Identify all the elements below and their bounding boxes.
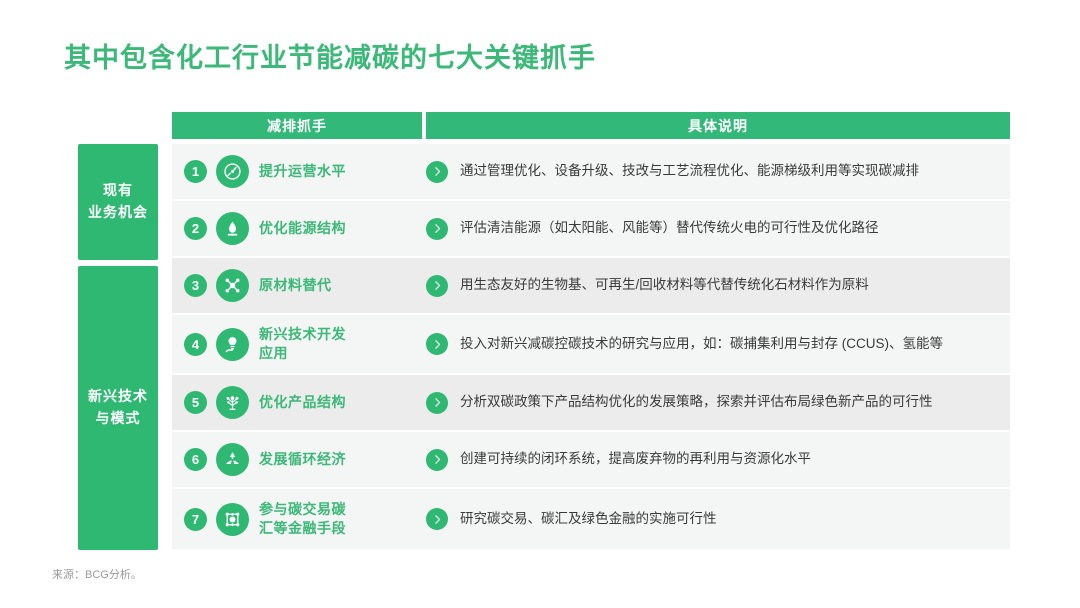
table-row[interactable]: 6 发展循环经济 创建可持续的闭环系统，提高废弃物的再利用与资源化水平 — [172, 432, 1010, 489]
category-label-line2: 与模式 — [96, 408, 141, 430]
column-header-measures: 减排抓手 — [172, 112, 422, 139]
tree-icon — [216, 386, 249, 419]
description-text: 研究碳交易、碳汇及绿色金融的实施可行性 — [460, 509, 717, 530]
chevron-right-icon — [426, 333, 448, 355]
chevron-right-icon — [426, 392, 448, 414]
chevron-right-icon — [426, 161, 448, 183]
chevron-right-icon — [426, 449, 448, 471]
measure-label: 发展循环经济 — [259, 450, 346, 469]
measure-label-line1: 优化能源结构 — [259, 219, 346, 238]
measure-label: 提升运营水平 — [259, 162, 346, 181]
flame-icon — [216, 212, 249, 245]
measure-cell: 6 发展循环经济 — [172, 432, 426, 487]
row-number-badge: 6 — [184, 448, 207, 471]
category-label-line1: 新兴技术 — [88, 386, 148, 408]
chevron-right-icon — [426, 218, 448, 240]
row-number-badge: 3 — [184, 274, 207, 297]
description-cell: 研究碳交易、碳汇及绿色金融的实施可行性 — [426, 489, 1010, 549]
row-number-badge: 7 — [184, 508, 207, 531]
table-row[interactable]: 1 提升运营水平 通过管理优化、设备升级、技改与工艺流程优化、能源梯级利用等实现… — [172, 144, 1010, 201]
measures-table: 1 提升运营水平 通过管理优化、设备升级、技改与工艺流程优化、能源梯级利用等实现… — [172, 144, 1010, 549]
description-cell: 创建可持续的闭环系统，提高废弃物的再利用与资源化水平 — [426, 432, 1010, 487]
recycle-icon — [216, 443, 249, 476]
slide-canvas: 其中包含化工行业节能减碳的七大关键抓手 减排抓手 具体说明 现有 业务机会 新兴… — [0, 0, 1080, 608]
measure-label: 参与碳交易碳 汇等金融手段 — [259, 500, 346, 538]
description-text: 评估清洁能源（如太阳能、风能等）替代传统火电的可行性及优化路径 — [460, 218, 879, 239]
measure-label-line1: 原材料替代 — [259, 276, 332, 295]
description-text: 用生态友好的生物基、可再生/回收材料等代替传统化石材料作为原料 — [460, 275, 869, 296]
description-cell: 通过管理优化、设备升级、技改与工艺流程优化、能源梯级利用等实现碳减排 — [426, 144, 1010, 199]
description-text: 创建可持续的闭环系统，提高废弃物的再利用与资源化水平 — [460, 449, 811, 470]
table-row[interactable]: 4 新兴技术开发 应用 投入对新兴减碳控碳技术的研究与应用，如：碳捕集利用与封存… — [172, 315, 1010, 375]
measure-cell: 3 原材料替代 — [172, 258, 426, 313]
page-title: 其中包含化工行业节能减碳的七大关键抓手 — [64, 36, 596, 75]
measure-label: 优化能源结构 — [259, 219, 346, 238]
measure-cell: 2 优化能源结构 — [172, 201, 426, 256]
source-note: 来源：BCG分析。 — [52, 566, 142, 582]
measure-label-line1: 新兴技术开发 — [259, 325, 346, 344]
description-cell: 投入对新兴减碳控碳技术的研究与应用，如：碳捕集利用与封存 (CCUS)、氢能等 — [426, 315, 1010, 373]
measure-label-line1: 发展循环经济 — [259, 450, 346, 469]
measure-cell: 7 参与碳交易碳 汇等金融手段 — [172, 489, 426, 549]
measure-cell: 5 优化产品结构 — [172, 375, 426, 430]
description-cell: 用生态友好的生物基、可再生/回收材料等代替传统化石材料作为原料 — [426, 258, 1010, 313]
table-row[interactable]: 7 参与碳交易碳 汇等金融手段 研究碳交易、碳汇及绿色金融的实施可行性 — [172, 489, 1010, 549]
lightbulb-hand-icon — [216, 328, 249, 361]
measure-label: 原材料替代 — [259, 276, 332, 295]
table-row[interactable]: 3 原材料替代 用生态友好的生物基、可再生/回收材料等代替传统化石材料作为原料 — [172, 258, 1010, 315]
measure-label-line2: 汇等金融手段 — [259, 519, 346, 538]
row-number-badge: 5 — [184, 391, 207, 414]
measure-cell: 1 提升运营水平 — [172, 144, 426, 199]
category-block-existing-opportunities: 现有 业务机会 — [78, 144, 158, 260]
gauge-icon — [216, 155, 249, 188]
table-row[interactable]: 5 优化产品结构 分析双碳政策下产品结构优化的发展策略，探索并评估布局绿色新产品… — [172, 375, 1010, 432]
measure-label-line2: 应用 — [259, 344, 346, 363]
description-cell: 评估清洁能源（如太阳能、风能等）替代传统火电的可行性及优化路径 — [426, 201, 1010, 256]
measure-label: 新兴技术开发 应用 — [259, 325, 346, 363]
row-number-badge: 1 — [184, 160, 207, 183]
measure-label-line1: 提升运营水平 — [259, 162, 346, 181]
measure-label-line1: 优化产品结构 — [259, 393, 346, 412]
category-label-line1: 现有 — [103, 180, 133, 202]
column-header-description: 具体说明 — [426, 112, 1010, 139]
description-text: 投入对新兴减碳控碳技术的研究与应用，如：碳捕集利用与封存 (CCUS)、氢能等 — [460, 334, 943, 355]
description-cell: 分析双碳政策下产品结构优化的发展策略，探索并评估布局绿色新产品的可行性 — [426, 375, 1010, 430]
molecule-icon — [216, 269, 249, 302]
measure-label: 优化产品结构 — [259, 393, 346, 412]
exchange-network-icon — [216, 503, 249, 536]
row-number-badge: 4 — [184, 333, 207, 356]
chevron-right-icon — [426, 508, 448, 530]
description-text: 分析双碳政策下产品结构优化的发展策略，探索并评估布局绿色新产品的可行性 — [460, 392, 933, 413]
measure-label-line1: 参与碳交易碳 — [259, 500, 346, 519]
table-row[interactable]: 2 优化能源结构 评估清洁能源（如太阳能、风能等）替代传统火电的可行性及优化路径 — [172, 201, 1010, 258]
category-label-line2: 业务机会 — [88, 202, 148, 224]
chevron-right-icon — [426, 275, 448, 297]
description-text: 通过管理优化、设备升级、技改与工艺流程优化、能源梯级利用等实现碳减排 — [460, 161, 919, 182]
row-number-badge: 2 — [184, 217, 207, 240]
measure-cell: 4 新兴技术开发 应用 — [172, 315, 426, 373]
category-block-emerging-tech: 新兴技术 与模式 — [78, 266, 158, 550]
